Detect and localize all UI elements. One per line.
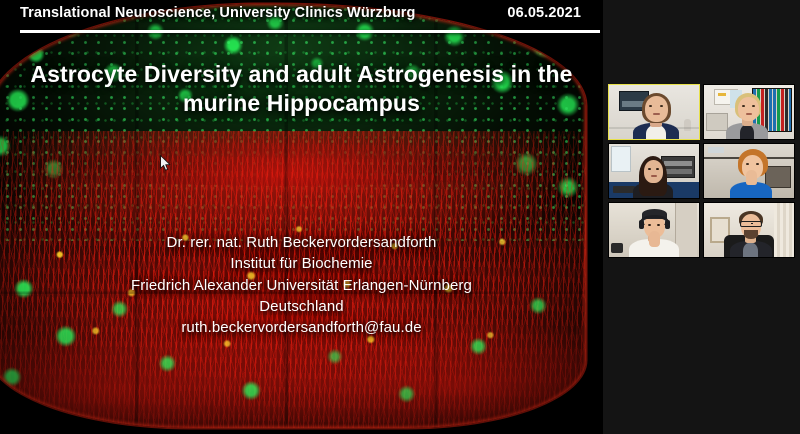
shelf-object: [684, 119, 691, 131]
cabinet: [706, 113, 728, 131]
author-email: ruth.beckervordersandforth@fau.de: [14, 317, 589, 338]
participant-3-video: [609, 144, 699, 198]
beard: [744, 230, 758, 239]
header-divider: [20, 30, 600, 33]
video-conference-screen: Translational Neuroscience, University C…: [0, 0, 800, 434]
slide-header: Translational Neuroscience, University C…: [0, 0, 603, 38]
shared-slide-region[interactable]: Translational Neuroscience, University C…: [0, 0, 603, 434]
slide-date-label: 06.05.2021: [507, 5, 581, 21]
author-line: Friedrich Alexander Universität Erlangen…: [14, 275, 589, 296]
curtain: [774, 203, 794, 257]
wall-shelf: [765, 166, 791, 188]
participant-sidebar: [603, 0, 800, 434]
desk-object: [611, 243, 623, 253]
mouse-cursor-icon: [160, 155, 171, 171]
participant-tile-5[interactable]: [608, 202, 700, 258]
slide-title: Astrocyte Diversity and adult Astrogenes…: [14, 60, 589, 117]
hand: [746, 170, 757, 185]
hand: [649, 231, 660, 247]
participant-5-video: [609, 203, 699, 257]
participant-tile-1[interactable]: [608, 84, 700, 140]
keyboard: [613, 186, 635, 193]
slide-author-block: Dr. rer. nat. Ruth Beckervordersandforth…: [14, 232, 589, 338]
author-line: Deutschland: [14, 296, 589, 317]
participant-6-video: [704, 203, 794, 257]
participant-1-video: [609, 85, 699, 139]
participant-tile-6[interactable]: [703, 202, 795, 258]
participant-2-video: [704, 85, 794, 139]
participant-4-video: [704, 144, 794, 198]
slide-institution-label: Translational Neuroscience, University C…: [20, 5, 416, 21]
window: [611, 146, 631, 172]
participant-tile-3[interactable]: [608, 143, 700, 199]
participant-grid: [608, 84, 800, 258]
author-line: Dr. rer. nat. Ruth Beckervordersandforth: [14, 232, 589, 253]
participant-tile-4[interactable]: [703, 143, 795, 199]
participant-tile-2[interactable]: [703, 84, 795, 140]
author-line: Institut für Biochemie: [14, 253, 589, 274]
